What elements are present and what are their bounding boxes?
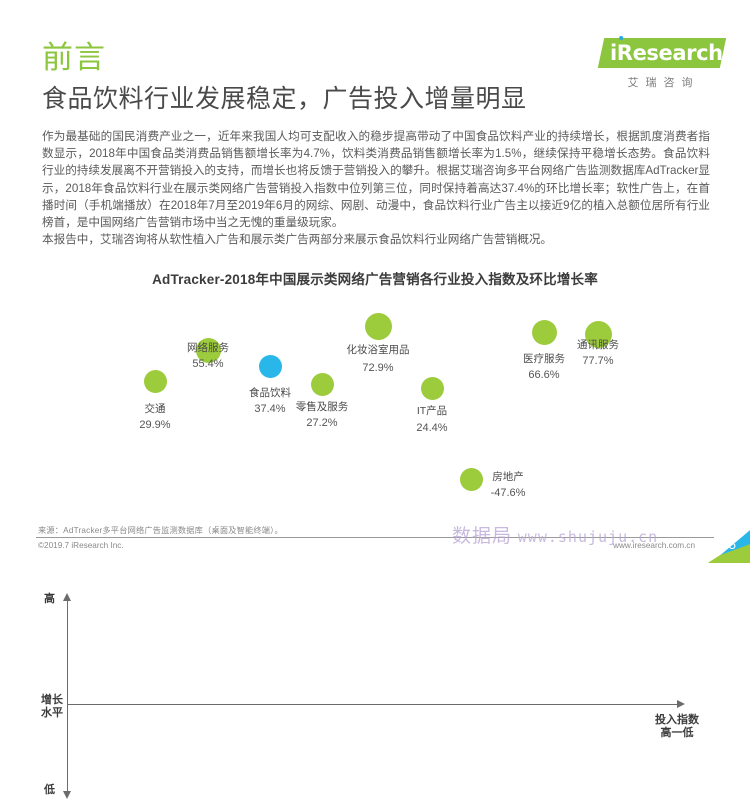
watermark-cn: 数据局 (452, 526, 512, 547)
page-eyebrow: 前言 (42, 40, 106, 76)
watermark-en: www.shujuju.cn (518, 528, 658, 546)
bubble-零售及服务 (311, 373, 334, 396)
bubble-label-房地产: 房地产 (448, 470, 568, 484)
bubble-value-IT产品: 24.4% (372, 421, 492, 435)
y-axis-line (67, 600, 68, 793)
x-axis-title-text: 投入指数 (640, 714, 714, 727)
y-axis-title-text: 增长水平 (41, 694, 63, 719)
y-axis-label-high: 高 (44, 593, 55, 606)
bubble-label-零售及服务: 零售及服务 (262, 400, 382, 414)
logo-subtitle: 艾瑞咨询 (597, 74, 723, 90)
source-note: 来源：AdTracker多平台网络广告监测数据库（桌面及智能终端）。 (38, 524, 283, 536)
x-axis-title-sub: 高一低 (640, 727, 714, 740)
bubble-IT产品 (421, 377, 444, 400)
intro-paragraph-1: 作为最基础的国民消费产业之一，近年来我国人均可支配收入的稳步提高带动了中国食品饮… (42, 128, 710, 231)
bubble-value-化妆浴室用品: 72.9% (318, 361, 438, 375)
bubble-value-房地产: -47.6% (448, 486, 568, 500)
bubble-value-通讯服务: 77.7% (538, 354, 658, 368)
y-axis-title: 增长水平 (39, 694, 65, 720)
logo-dot-icon (619, 36, 623, 40)
bubble-label-IT产品: IT产品 (372, 404, 492, 418)
logo-brand-text: iResearch (610, 39, 723, 67)
x-axis-title: 投入指数 高一低 (640, 714, 714, 740)
page-number: 5 (729, 537, 736, 552)
intro-paragraphs: 作为最基础的国民消费产业之一，近年来我国人均可支配收入的稳步提高带动了中国食品饮… (42, 128, 710, 248)
x-axis-line (67, 704, 679, 705)
y-axis-label-low: 低 (44, 784, 55, 797)
bubble-label-通讯服务: 通讯服务 (538, 338, 658, 352)
copyright-text: ©2019.7 iResearch Inc. (38, 541, 124, 550)
slide-page: 前言 食品饮料行业发展稳定，广告投入增量明显 iResearch 艾瑞咨询 作为… (0, 0, 750, 563)
bubble-chart: 高 低 增长水平 投入指数 高一低 交通29.9%网络服务55.4%食品饮料37… (0, 290, 750, 520)
bubble-value-网络服务: 55.4% (148, 357, 268, 371)
bubble-label-交通: 交通 (95, 402, 215, 416)
bubble-value-交通: 29.9% (95, 418, 215, 432)
watermark: 数据局 www.shujuju.cn (452, 521, 658, 548)
bubble-label-化妆浴室用品: 化妆浴室用品 (318, 343, 438, 357)
intro-paragraph-2: 本报告中，艾瑞咨询将从软性植入广告和展示类广告两部分来展示食品饮料行业网络广告营… (42, 231, 710, 248)
x-axis-arrow-right-icon (677, 700, 685, 708)
bubble-食品饮料 (259, 355, 282, 378)
chart-title: AdTracker-2018年中国展示类网络广告营销各行业投入指数及环比增长率 (0, 268, 750, 288)
page-title: 食品饮料行业发展稳定，广告投入增量明显 (42, 84, 527, 114)
iresearch-logo: iResearch 艾瑞咨询 (597, 38, 723, 90)
bubble-label-网络服务: 网络服务 (148, 341, 268, 355)
y-axis-arrow-up-icon (63, 593, 71, 601)
y-axis-arrow-down-icon (63, 791, 71, 799)
bubble-value-零售及服务: 27.2% (262, 416, 382, 430)
bubble-交通 (144, 370, 167, 393)
logo-mark: iResearch (598, 38, 726, 68)
corner-decoration (688, 515, 750, 563)
bubble-化妆浴室用品 (365, 313, 392, 340)
bubble-value-医疗服务: 66.6% (484, 368, 604, 382)
